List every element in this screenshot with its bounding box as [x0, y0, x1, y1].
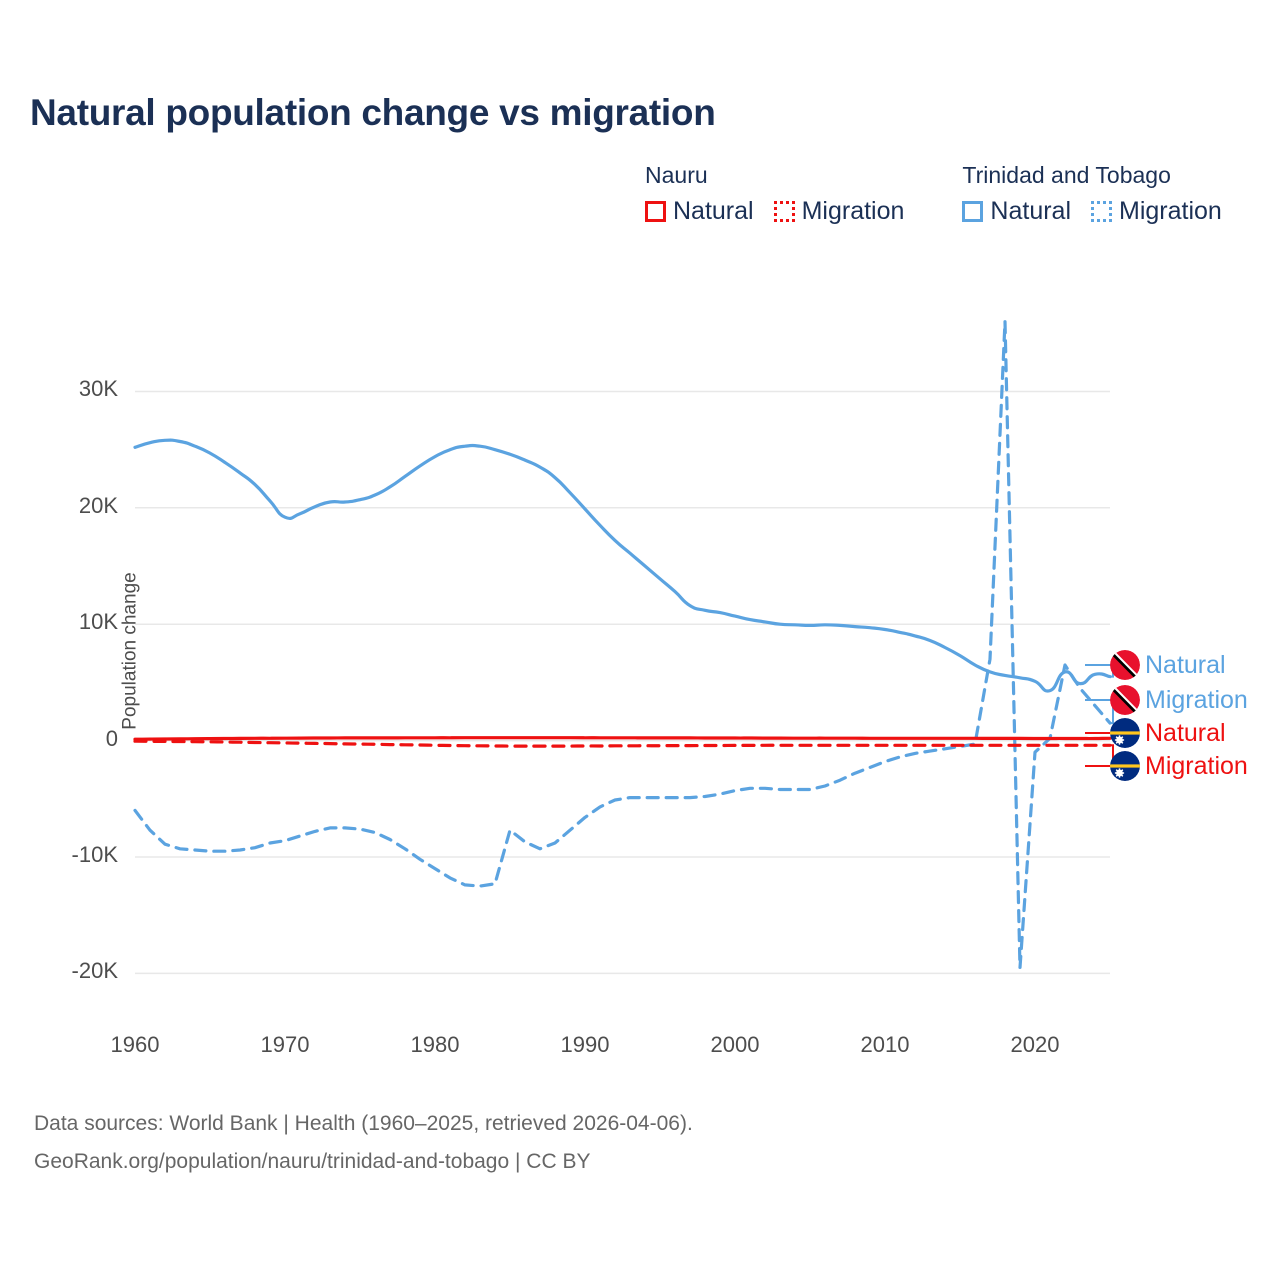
trinidad-and-tobago-flag-icon	[1110, 650, 1140, 680]
series-end-label-text: Migration	[1145, 752, 1248, 781]
series-end-label-text: Natural	[1145, 719, 1226, 748]
series-end-label[interactable]: Natural	[1110, 650, 1226, 680]
x-axis-tick-label: 1970	[261, 1032, 310, 1058]
series-line-2[interactable]	[135, 738, 1110, 740]
series-end-label[interactable]: Migration	[1110, 685, 1248, 715]
y-axis-tick-label: 30K	[0, 376, 128, 402]
footer-data-sources: Data sources: World Bank | Health (1960–…	[34, 1112, 693, 1136]
series-end-label[interactable]: Natural	[1110, 718, 1226, 748]
chart-plot-area	[0, 0, 1280, 1280]
x-axis-tick-label: 2010	[861, 1032, 910, 1058]
y-axis-tick-label: 10K	[0, 609, 128, 635]
nauru-flag-icon	[1110, 718, 1140, 748]
x-axis-tick-label: 2000	[711, 1032, 760, 1058]
y-axis-tick-label: -20K	[0, 958, 128, 984]
y-axis-tick-label: 20K	[0, 493, 128, 519]
chart-page: Natural population change vs migration N…	[0, 0, 1280, 1280]
series-end-label-text: Migration	[1145, 686, 1248, 715]
nauru-flag-icon	[1110, 751, 1140, 781]
x-axis-tick-label: 2020	[1011, 1032, 1060, 1058]
trinidad-and-tobago-flag-icon	[1110, 685, 1140, 715]
y-axis-tick-label: -10K	[0, 842, 128, 868]
series-end-label[interactable]: Migration	[1110, 751, 1248, 781]
footer-attribution: GeoRank.org/population/nauru/trinidad-an…	[34, 1150, 590, 1174]
series-line-1[interactable]	[135, 322, 1110, 968]
x-axis-tick-label: 1960	[111, 1032, 160, 1058]
y-axis-title: Population change	[120, 572, 142, 729]
series-leader-line	[1085, 745, 1113, 766]
y-axis-tick-label: 0	[0, 726, 128, 752]
series-line-3[interactable]	[135, 741, 1110, 746]
x-axis-tick-label: 1980	[411, 1032, 460, 1058]
x-axis-tick-label: 1990	[561, 1032, 610, 1058]
series-line-0[interactable]	[135, 440, 1110, 691]
series-end-label-text: Natural	[1145, 651, 1226, 680]
